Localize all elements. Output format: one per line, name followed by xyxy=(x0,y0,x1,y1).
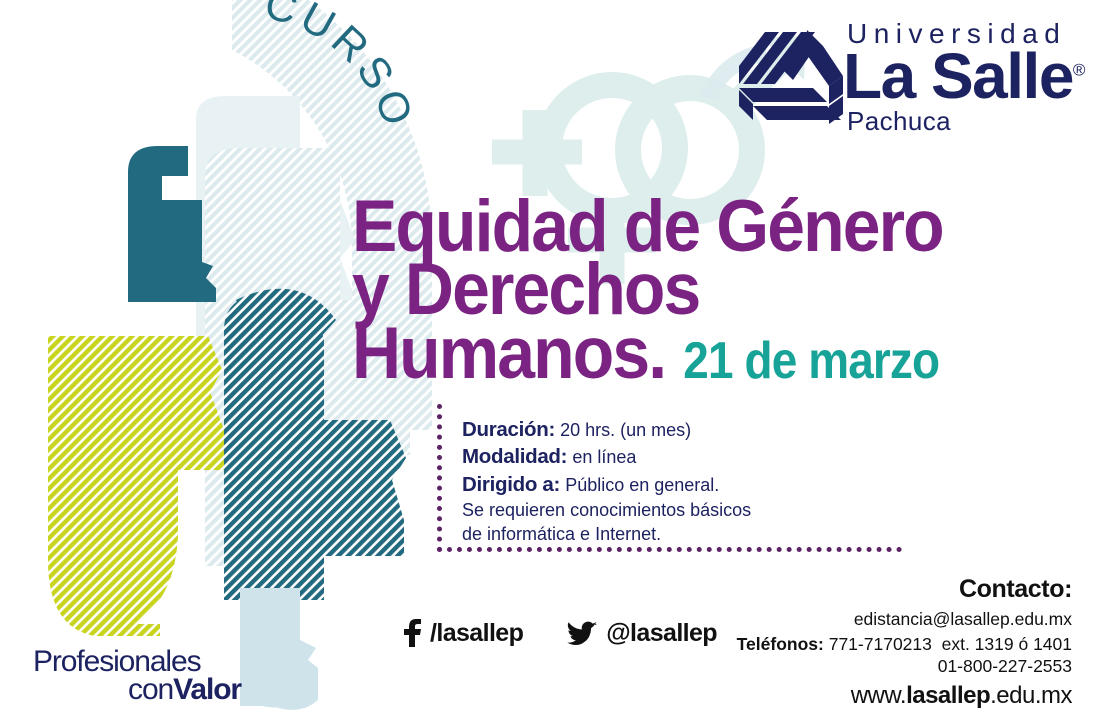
lasalle-logo: Universidad La Salle® Pachuca xyxy=(735,20,1075,150)
detail-duration: Duración: 20 hrs. (un mes) xyxy=(462,416,902,443)
facebook-link[interactable]: /lasallep xyxy=(404,619,523,648)
contact-block: Contacto: edistancia@lasallep.edu.mx Tel… xyxy=(642,575,1072,710)
tagline-line-1: Profesionales xyxy=(33,648,243,676)
contact-email[interactable]: edistancia@lasallep.edu.mx xyxy=(642,609,1072,630)
audience-label: Dirigido a: xyxy=(462,473,560,496)
phones-label: Teléfonos: xyxy=(737,634,824,654)
modality-value: en línea xyxy=(572,447,636,467)
head-profile-dark-teal-solid xyxy=(128,146,216,302)
course-date: 21 de marzo xyxy=(683,340,939,384)
registered-trademark-icon: ® xyxy=(1073,61,1086,80)
modality-label: Modalidad: xyxy=(462,445,567,468)
logo-campus-label: Pachuca xyxy=(843,108,1079,134)
facebook-icon xyxy=(404,619,421,647)
logo-name-text: La Salle xyxy=(843,40,1073,112)
detail-note-line-2: de informática e Internet. xyxy=(462,522,902,546)
contact-title: Contacto: xyxy=(642,575,1072,604)
website-brand: lasallep xyxy=(906,682,990,709)
tagline-block: Profesionales conValor xyxy=(33,648,243,703)
title-line-3: Humanos.21 de marzo xyxy=(352,323,1012,384)
contact-phones-row: Teléfonos: 771-7170213 ext. 1319 ó 1401 xyxy=(642,634,1072,655)
detail-modality: Modalidad: en línea xyxy=(462,443,902,470)
curso-label: CURSO xyxy=(260,0,424,136)
poster-canvas: CURSO Universid xyxy=(0,0,1100,712)
detail-note-line-1: Se requieren conocimientos básicos xyxy=(462,498,902,522)
duration-value: 20 hrs. (un mes) xyxy=(560,420,691,440)
phone-main: 771-7170213 xyxy=(829,634,932,654)
duration-label: Duración: xyxy=(462,418,555,441)
title-line-3-text: Humanos. xyxy=(352,313,665,394)
main-title: Equidad de Género y Derechos Humanos.21 … xyxy=(352,196,1062,384)
logo-name: La Salle® xyxy=(843,50,1079,102)
website-url[interactable]: www.lasallep.edu.mx xyxy=(642,682,1072,710)
course-details-box: Duración: 20 hrs. (un mes) Modalidad: en… xyxy=(437,404,902,552)
head-profile-pale-bottom xyxy=(240,588,318,710)
website-prefix: www. xyxy=(851,682,906,709)
twitter-icon xyxy=(567,621,597,646)
title-line-2: y Derechos xyxy=(352,259,1012,320)
head-profile-lime-striped xyxy=(48,336,224,636)
phone-tollfree: 01-800-227-2553 xyxy=(642,656,1072,677)
tagline-line-2: conValor xyxy=(33,676,243,704)
detail-audience: Dirigido a: Público en general. xyxy=(462,471,902,498)
curso-badge: CURSO xyxy=(222,0,437,207)
lasalle-logo-mark xyxy=(735,28,845,133)
tagline-con: con xyxy=(128,673,173,706)
title-line-1: Equidad de Género xyxy=(352,196,1012,257)
website-suffix: .edu.mx xyxy=(990,682,1072,709)
audience-value: Público en general. xyxy=(565,475,719,495)
tagline-valor: Valor xyxy=(173,673,241,706)
facebook-handle: /lasallep xyxy=(430,619,523,648)
phone-extension: ext. 1319 ó 1401 xyxy=(942,634,1072,654)
